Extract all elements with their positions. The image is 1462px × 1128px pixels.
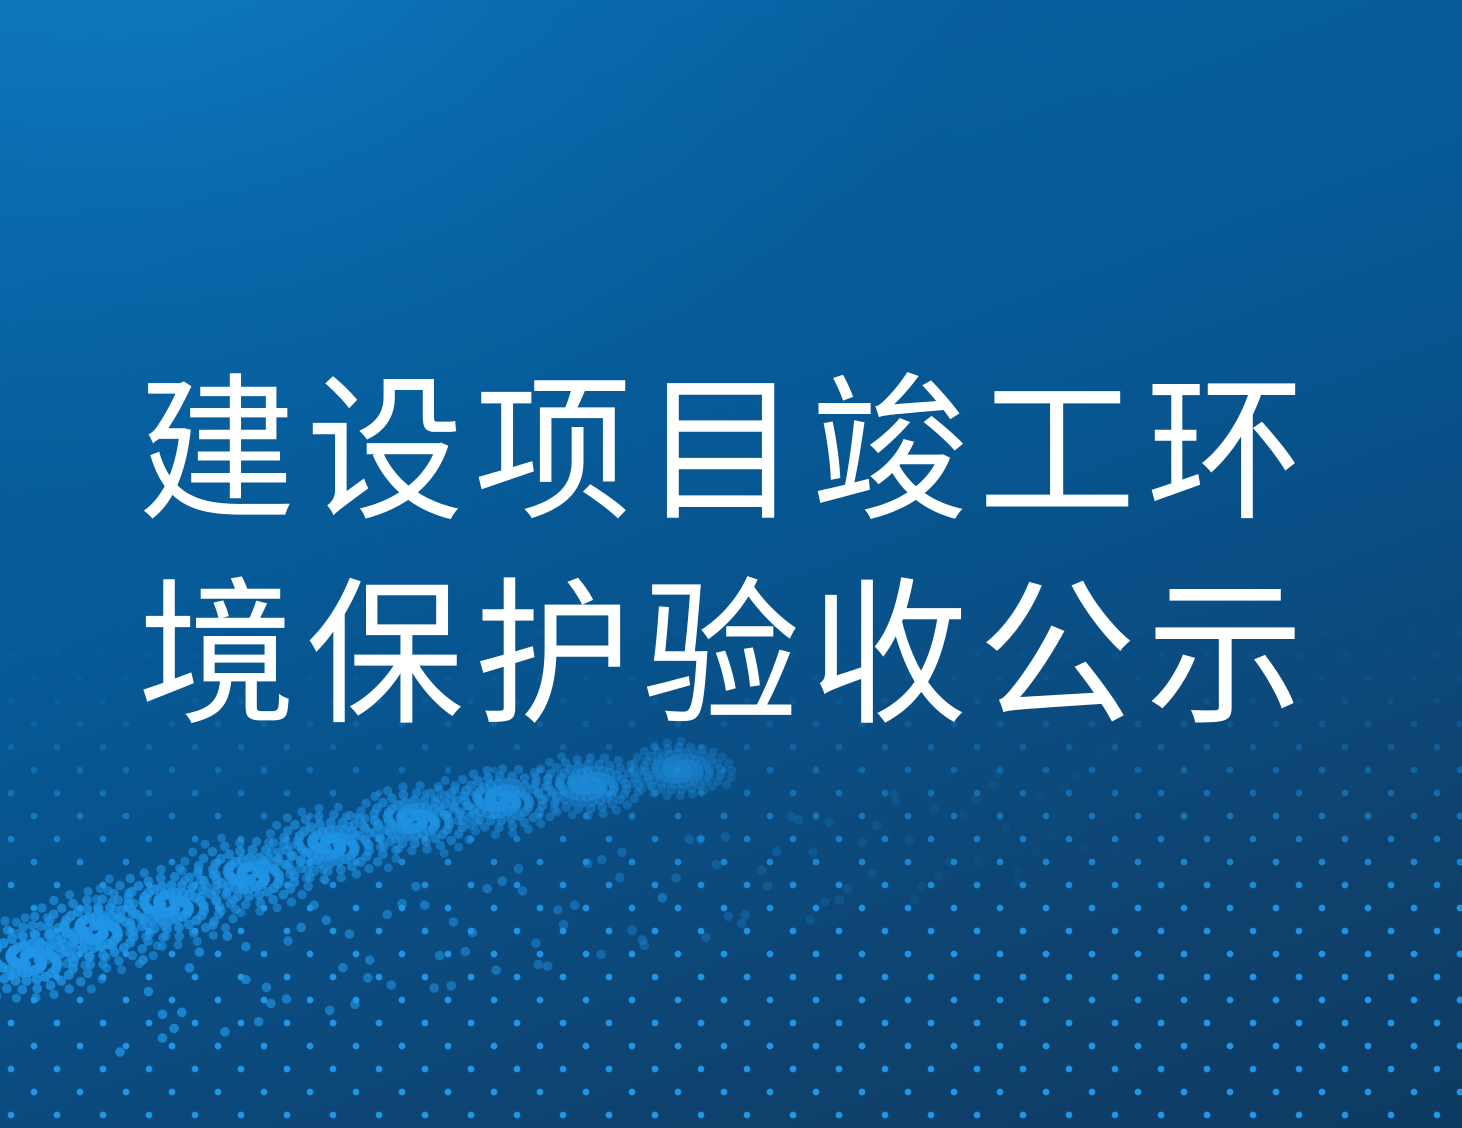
title-line-1: 建设项目竣工环 (138, 352, 1338, 556)
announcement-banner: 建设项目竣工环 境保护验收公示 (0, 0, 1462, 1128)
title-line-2: 境保护验收公示 (138, 556, 1338, 760)
banner-title: 建设项目竣工环 境保护验收公示 (138, 352, 1338, 760)
